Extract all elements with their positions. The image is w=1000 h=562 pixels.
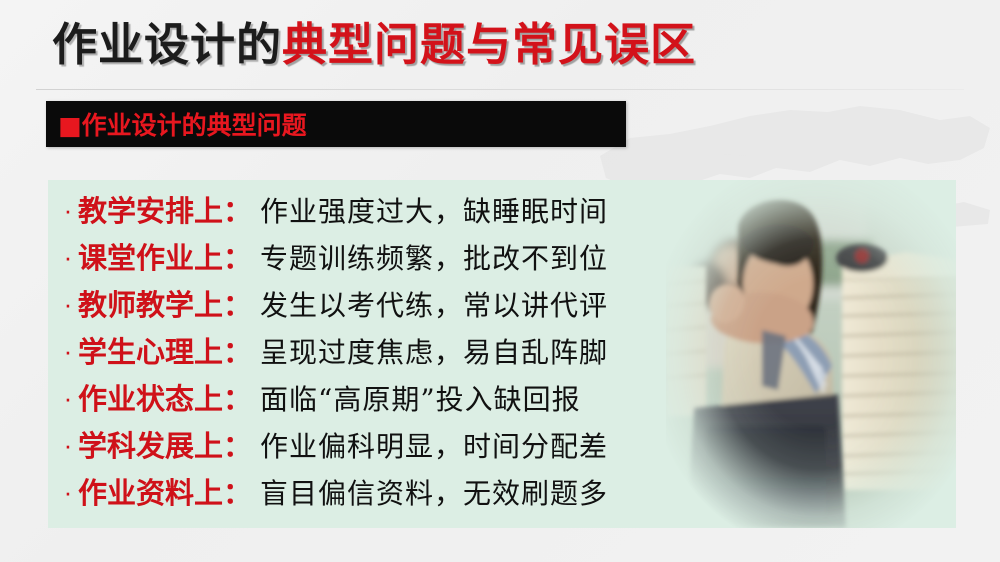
slide-canvas: 作业设计的典型问题与常见误区 ■作业设计的典型问题 · 教学安排上： 作业强度过… <box>0 0 1000 562</box>
list-item: · 教学安排上： 作业强度过大，缺睡眠时间 <box>58 188 718 235</box>
title-divider-rule <box>36 89 964 90</box>
list-item-label: 教学安排上： <box>78 188 252 230</box>
problem-list: · 教学安排上： 作业强度过大，缺睡眠时间 · 课堂作业上： 专题训练频繁，批改… <box>58 188 718 517</box>
list-item: · 学生心理上： 呈现过度焦虑，易自乱阵脚 <box>58 329 718 376</box>
list-item-text: 作业强度过大，缺睡眠时间 <box>260 190 608 230</box>
list-item: · 教师教学上： 发生以考代练，常以讲代评 <box>58 282 718 329</box>
bullet-dot-icon: · <box>58 338 78 364</box>
list-item-text: 发生以考代练，常以讲代评 <box>260 284 608 324</box>
bullet-dot-icon: · <box>58 291 78 317</box>
tired-student-photo <box>666 180 956 528</box>
list-item-label: 学生心理上： <box>78 329 252 371</box>
list-item-text: 面临“高原期”投入缺回报 <box>260 378 581 418</box>
bullet-dot-icon: · <box>58 479 78 505</box>
list-item-label: 课堂作业上： <box>78 235 252 277</box>
subtitle-bar-label: ■作业设计的典型问题 <box>58 106 307 142</box>
list-item-label: 作业资料上： <box>78 470 252 512</box>
list-item: · 学科发展上： 作业偏科明显，时间分配差 <box>58 423 718 470</box>
list-item-label: 作业状态上： <box>78 376 252 418</box>
bullet-dot-icon: · <box>58 432 78 458</box>
list-item-label: 教师教学上： <box>78 282 252 324</box>
list-item-text: 作业偏科明显，时间分配差 <box>260 425 608 465</box>
list-item-text: 专题训练频繁，批改不到位 <box>260 237 608 277</box>
content-panel: · 教学安排上： 作业强度过大，缺睡眠时间 · 课堂作业上： 专题训练频繁，批改… <box>48 180 956 528</box>
slide-title: 作业设计的典型问题与常见误区 <box>52 22 696 67</box>
title-red-segment: 典型问题与常见误区 <box>282 18 696 71</box>
subtitle-bar: ■作业设计的典型问题 <box>46 101 626 147</box>
bullet-dot-icon: · <box>58 244 78 270</box>
list-item: · 课堂作业上： 专题训练频繁，批改不到位 <box>58 235 718 282</box>
list-item: · 作业资料上： 盲目偏信资料，无效刷题多 <box>58 470 718 517</box>
title-black-segment: 作业设计的 <box>52 18 282 71</box>
list-item-label: 学科发展上： <box>78 423 252 465</box>
bullet-dot-icon: · <box>58 197 78 223</box>
list-item-text: 盲目偏信资料，无效刷题多 <box>260 472 608 512</box>
bullet-dot-icon: · <box>58 385 78 411</box>
list-item: · 作业状态上： 面临“高原期”投入缺回报 <box>58 376 718 423</box>
list-item-text: 呈现过度焦虑，易自乱阵脚 <box>260 331 608 371</box>
